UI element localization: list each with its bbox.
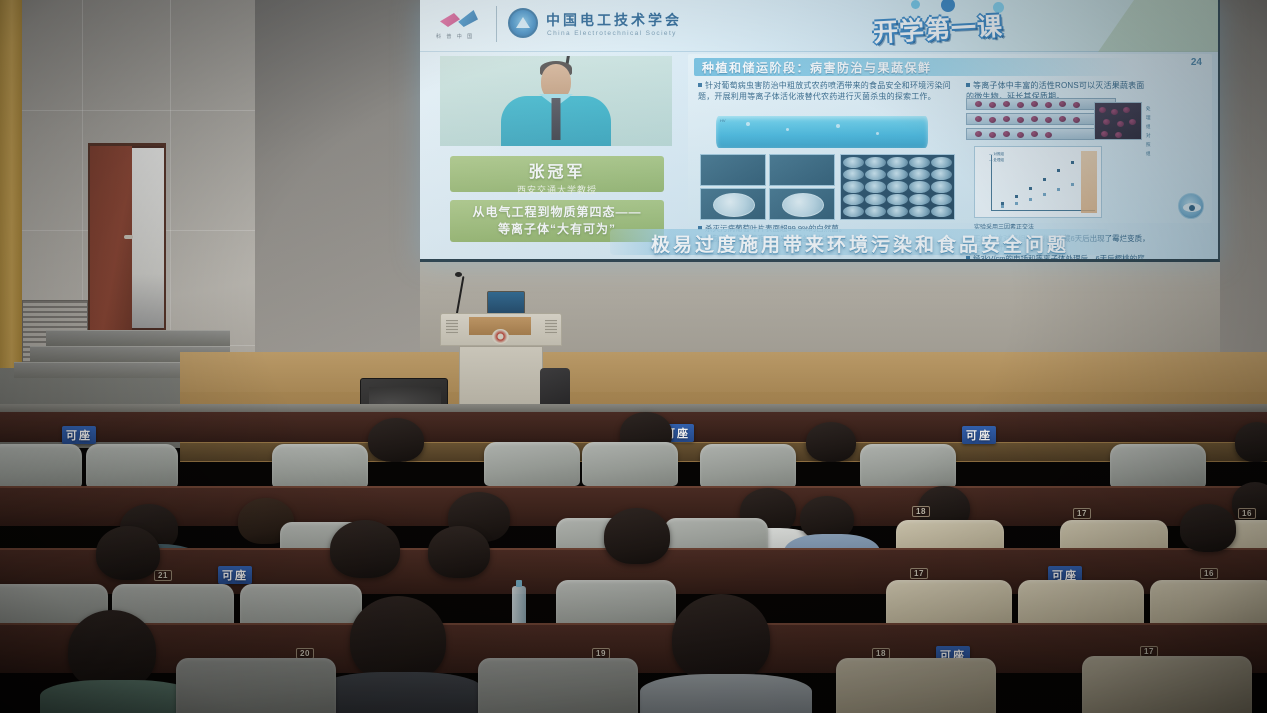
seat-placard: 可座	[962, 426, 996, 444]
presenter-name: 张冠军	[450, 158, 664, 182]
audience-shoulders	[316, 672, 484, 713]
presenter-column: 张冠军 西安交通大学教授 从电气工程到物质第四态—— 等离子体“大有可为”	[432, 56, 680, 253]
presenter-name-plate: 张冠军 西安交通大学教授	[450, 156, 664, 192]
seat[interactable]	[0, 444, 82, 488]
campaign-title-art: 开学第一课	[823, 2, 1053, 52]
rot-rate-chart: — 对照组— 处理组	[974, 146, 1102, 218]
section-heading-text: 种植和储运阶段：病害防治与果蔬保鲜	[702, 59, 932, 76]
lectern-monitor[interactable]	[487, 291, 525, 315]
campaign-title-text: 开学第一课	[822, 4, 1054, 52]
audience-head	[806, 422, 856, 462]
watermark-eye-icon	[1178, 193, 1204, 219]
bullet-left-1-text: 针对葡萄病虫害防治中粗放式农药喷洒带来的食品安全和环境污染问题，开展利用等离子体…	[698, 81, 951, 101]
slide-bottom-banner: 极易过度施用带来环境污染和食品安全问题	[610, 229, 1110, 255]
audience-head	[68, 610, 156, 690]
lectern-speaker-grille	[446, 320, 458, 335]
seat-number: 21	[154, 570, 172, 581]
slide-header-bar: 科 普 中 国 中国电工技术学会 China Electrotechnical …	[420, 0, 1218, 52]
stair-step	[46, 330, 230, 346]
petri-photo	[700, 188, 766, 220]
sample-photo	[769, 154, 835, 186]
microphone-icon	[455, 272, 462, 277]
audience-seating-area: 可座 可座 可座 18 17 16	[0, 408, 1267, 713]
lecture-hall-photo: 科 普 中 国 中国电工技术学会 China Electrotechnical …	[0, 0, 1267, 713]
audience-head	[350, 596, 446, 682]
figure-legend-right: 处理组 对照组	[1146, 104, 1151, 158]
seat[interactable]	[1082, 656, 1252, 713]
audience-head	[96, 526, 160, 580]
seat-placard: 可座	[218, 566, 252, 584]
seat[interactable]	[86, 444, 178, 488]
slide-page-number: 24	[1191, 57, 1202, 68]
audience-head	[672, 594, 770, 682]
seat-number: 17	[1073, 508, 1091, 519]
sponsor-logo-icon	[438, 8, 482, 32]
wall-panel-center	[255, 0, 435, 360]
seat-number: 16	[1238, 508, 1256, 519]
audience-shoulders	[640, 674, 812, 713]
society-seal-icon	[508, 8, 538, 38]
seat-placard: 可座	[62, 426, 96, 444]
audience-head	[604, 508, 670, 564]
chart-legend: — 对照组— 处理组	[989, 151, 1004, 163]
header-corner-decor	[1098, 0, 1218, 52]
seat-number: 17	[910, 568, 928, 579]
seat-number: 18	[912, 506, 930, 517]
exit-door[interactable]	[90, 146, 132, 336]
legend-item-control: 对照组	[1146, 131, 1151, 158]
header-divider	[496, 6, 497, 42]
seat[interactable]	[860, 444, 956, 488]
seat[interactable]	[272, 444, 368, 488]
cherry-closeup-photo	[1094, 102, 1142, 140]
seat-number: 16	[1200, 568, 1218, 579]
microplate-array-photo	[840, 154, 955, 220]
projection-screen: 科 普 中 国 中国电工技术学会 China Electrotechnical …	[420, 0, 1220, 262]
presenter-video-thumbnail	[440, 56, 672, 146]
door-handle[interactable]	[124, 235, 133, 239]
seat[interactable]	[700, 444, 796, 488]
cherry-storage-photos: 处理组 对照组	[966, 98, 1116, 140]
desk-surface	[0, 404, 1267, 412]
lectern-speaker-grille	[545, 320, 557, 335]
presenter-affiliation: 西安交通大学教授	[450, 183, 664, 196]
talk-title-line1: 从电气工程到物质第四态——	[450, 204, 664, 221]
organization-name-cn: 中国电工技术学会	[546, 10, 682, 30]
seat[interactable]	[176, 658, 336, 713]
seat[interactable]	[484, 442, 580, 486]
seat[interactable]	[1110, 444, 1206, 488]
audience-head	[428, 526, 490, 578]
doorway-corridor	[132, 148, 164, 328]
audience-head	[1180, 504, 1236, 552]
lectern-body	[459, 346, 543, 408]
presenter-tie	[552, 98, 561, 140]
slide-content-panel: 种植和储运阶段：病害防治与果蔬保鲜 24 针对葡萄病虫害防治中粗放式农药喷洒带来…	[688, 54, 1212, 223]
legend-item-treated: 处理组	[1146, 104, 1151, 131]
sample-photo	[700, 154, 766, 186]
seat[interactable]	[836, 658, 996, 713]
audience-head	[330, 520, 400, 578]
bullet-left-1: 针对葡萄病虫害防治中粗放式农药喷洒带来的食品安全和环境污染问题，开展利用等离子体…	[698, 80, 956, 102]
plasma-reactor-diagram: HV	[716, 116, 928, 148]
sponsor-logo-caption: 科 普 中 国	[436, 33, 474, 40]
organization-name-en: China Electrotechnical Society	[547, 30, 677, 37]
audience-head	[1235, 422, 1267, 462]
seat[interactable]	[478, 658, 638, 713]
seat[interactable]	[582, 442, 678, 486]
university-crest-icon	[492, 329, 509, 344]
audience-head	[368, 418, 424, 462]
presentation-slide: 科 普 中 国 中国电工技术学会 China Electrotechnical …	[420, 0, 1218, 259]
petri-photo	[769, 188, 835, 220]
audience-shoulders	[40, 680, 196, 713]
slide-banner-text: 极易过度施用带来环境污染和食品安全问题	[610, 230, 1110, 257]
experiment-photo-grid	[700, 154, 955, 220]
section-heading-bar: 种植和储运阶段：病害防治与果蔬保鲜	[694, 58, 1132, 76]
